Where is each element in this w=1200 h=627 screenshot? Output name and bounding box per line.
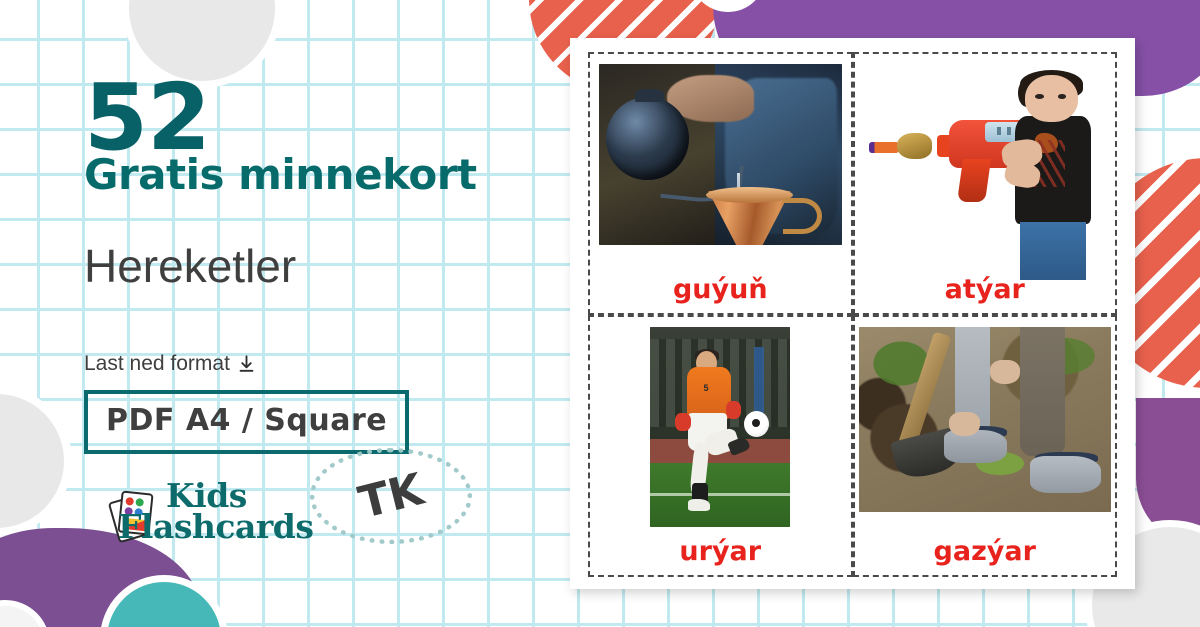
flashcard-word: gazýar <box>855 536 1116 567</box>
brand-logo-line2: Flashcards <box>118 510 313 543</box>
flashcard-sheet: guýuň <box>570 38 1135 589</box>
subtitle: Gratis minnekort <box>84 152 477 198</box>
brand-logo[interactable]: Kids Flashcards <box>104 483 304 563</box>
boy-shooting-blaster-image <box>859 64 1111 280</box>
flashcard-cell[interactable]: atýar <box>853 52 1118 315</box>
format-button[interactable]: PDF A4 / Square <box>84 390 409 454</box>
flashcard-cell[interactable]: gazýar <box>853 315 1118 578</box>
kettle-pouring-image <box>599 64 842 245</box>
flashcard-word: atýar <box>855 274 1116 305</box>
page-title: Hereketler <box>84 240 296 292</box>
flashcard-cell[interactable]: guýuň <box>588 52 853 315</box>
digging-soil-image <box>859 327 1111 512</box>
format-value: PDF A4 / Square <box>106 404 387 438</box>
flashcard-word: urýar <box>590 536 851 567</box>
brand-logo-text: Kids Flashcards <box>166 479 313 543</box>
download-format-text: Last ned format <box>84 352 230 376</box>
download-icon <box>238 354 255 374</box>
left-content-column: 52 Gratis minnekort Hereketler Last ned … <box>0 0 560 627</box>
download-format-label: Last ned format <box>84 352 255 376</box>
seal-language-code: TK <box>301 430 481 562</box>
language-seal: TK <box>310 448 472 544</box>
flashcard-grid: guýuň <box>588 52 1117 577</box>
soccer-kick-image: 5 <box>650 327 790 527</box>
flashcard-word: guýuň <box>590 274 851 305</box>
poster-canvas: 52 Gratis minnekort Hereketler Last ned … <box>0 0 1200 627</box>
flashcard-cell[interactable]: 5 urýar <box>588 315 853 578</box>
